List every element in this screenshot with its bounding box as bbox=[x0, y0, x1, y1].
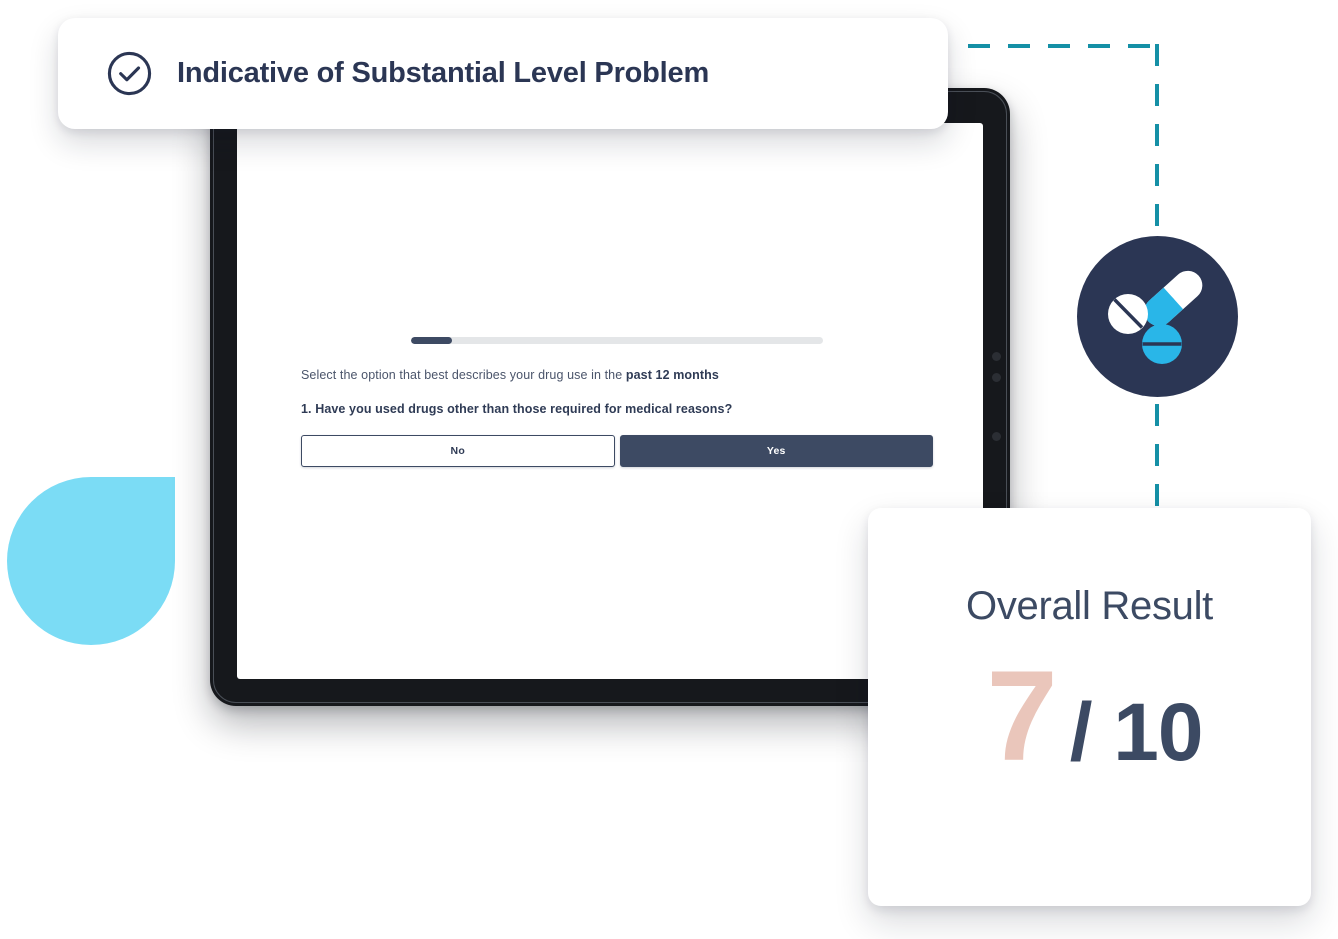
decorative-drop-shape bbox=[7, 477, 175, 645]
pills-badge bbox=[1077, 236, 1238, 397]
power-button[interactable] bbox=[992, 432, 1001, 441]
volume-down-button[interactable] bbox=[992, 373, 1001, 382]
volume-up-button[interactable] bbox=[992, 352, 1001, 361]
overall-result-score: 7 / 10 bbox=[868, 653, 1311, 781]
answer-option-yes[interactable]: Yes bbox=[620, 435, 934, 467]
status-badge-title: Indicative of Substantial Level Problem bbox=[177, 57, 709, 90]
questionnaire: Select the option that best describes yo… bbox=[301, 367, 933, 467]
answer-options: No Yes bbox=[301, 435, 933, 467]
illustration-stage: Select the option that best describes yo… bbox=[0, 0, 1338, 939]
pills-icon bbox=[1077, 236, 1238, 397]
overall-result-title: Overall Result bbox=[966, 584, 1213, 629]
questionnaire-intro-prefix: Select the option that best describes yo… bbox=[301, 368, 626, 382]
check-circle-icon bbox=[106, 50, 153, 97]
result-status-badge: Indicative of Substantial Level Problem bbox=[58, 18, 948, 129]
progress-bar bbox=[411, 337, 823, 344]
progress-bar-fill bbox=[411, 337, 452, 344]
question-text: 1. Have you used drugs other than those … bbox=[301, 401, 933, 418]
questionnaire-intro: Select the option that best describes yo… bbox=[301, 367, 933, 384]
dashed-connector-horizontal bbox=[968, 44, 1160, 48]
overall-result-card: Overall Result 7 / 10 bbox=[868, 508, 1311, 906]
score-value: 7 bbox=[987, 653, 1056, 781]
questionnaire-intro-emphasis: past 12 months bbox=[626, 368, 719, 382]
score-out-of: / 10 bbox=[1070, 692, 1203, 774]
answer-option-no[interactable]: No bbox=[301, 435, 615, 467]
